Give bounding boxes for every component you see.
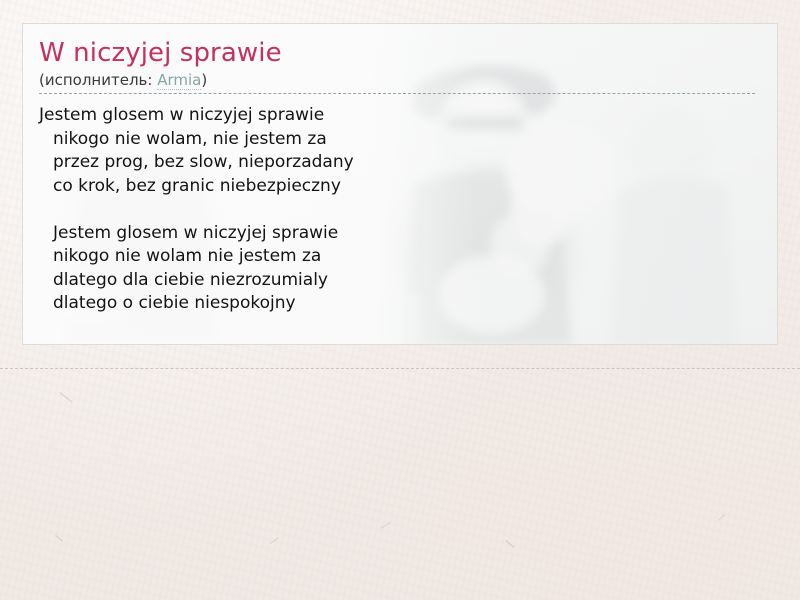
page-divider-rule	[0, 368, 800, 369]
artist-label: (исполнитель:	[39, 71, 157, 89]
lyrics-line: nikogo nie wolam, nie jestem za	[39, 128, 761, 152]
lyrics-line: Jestem glosem w niczyjej sprawie	[39, 222, 761, 246]
lyrics-line: nikogo nie wolam nie jestem za	[39, 245, 761, 269]
paper-fleck	[55, 535, 63, 542]
lyrics-line: dlatego o ciebie niespokojny	[39, 292, 761, 316]
lyrics-line: dlatego dla ciebie niezrozumialy	[39, 269, 761, 293]
lyrics-stanza: Jestem glosem w niczyjej sprawie nikogo …	[39, 222, 761, 316]
artist-label-close: )	[201, 71, 207, 89]
paper-fleck	[505, 540, 514, 548]
lyrics-slide-panel: W niczyjej sprawie (исполнитель: Armia) …	[22, 23, 778, 345]
paper-fleck	[380, 522, 391, 529]
lyrics-line: przez prog, bez slow, nieporzadany	[39, 151, 761, 175]
lyrics-line: Jestem glosem w niczyjej sprawie	[39, 104, 761, 128]
artist-link[interactable]: Armia	[157, 71, 201, 90]
paper-fleck	[270, 537, 279, 544]
lyrics-stanza: Jestem glosem w niczyjej sprawie nikogo …	[39, 104, 761, 198]
paper-fleck	[59, 392, 72, 403]
paper-fleck	[718, 514, 725, 521]
page-title: W niczyjej sprawie	[39, 37, 761, 69]
artist-line: (исполнитель: Armia)	[39, 70, 761, 90]
slide-content: W niczyjej sprawie (исполнитель: Armia) …	[23, 24, 777, 344]
lyrics-body: Jestem glosem w niczyjej sprawie nikogo …	[39, 94, 761, 316]
lyrics-line: co krok, bez granic niebezpieczny	[39, 175, 761, 199]
